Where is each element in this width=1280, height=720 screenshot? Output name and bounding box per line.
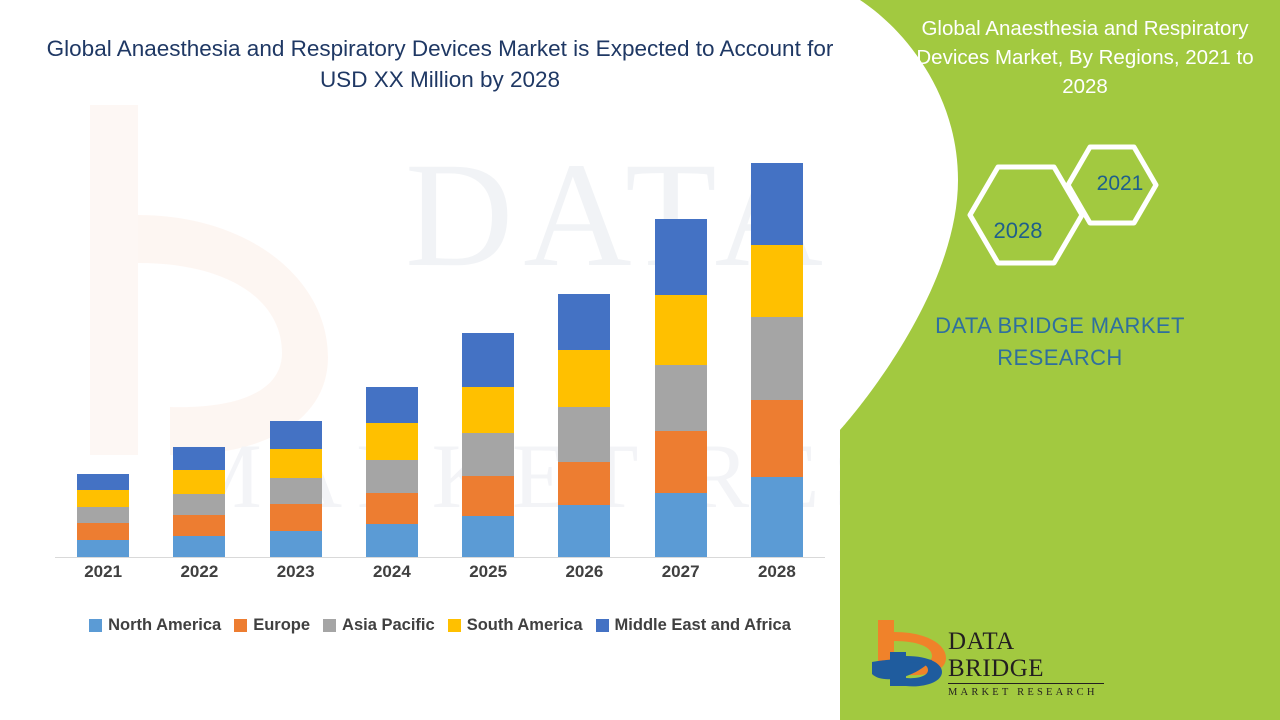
hexagon-2028-shape [970,167,1082,263]
legend-label: Europe [253,616,310,635]
bar-segment[interactable] [173,515,225,536]
bar-stack-2023[interactable] [270,421,322,557]
hexagon-2028-label: 2028 [968,218,1068,244]
x-axis-tick-2021: 2021 [55,562,151,582]
bar-segment[interactable] [462,433,514,475]
bar-segment[interactable] [655,295,707,365]
legend-swatch-icon [323,619,336,632]
legend-swatch-icon [448,619,461,632]
bar-segment[interactable] [270,421,322,450]
bar-segment[interactable] [462,333,514,387]
bar-stack-2028[interactable] [751,163,803,557]
logo-text-block: DATA BRIDGE MARKET RESEARCH [948,628,1108,699]
right-panel-title: Global Anaesthesia and Respiratory Devic… [900,14,1270,101]
bar-segment[interactable] [655,431,707,492]
bar-segment[interactable] [270,478,322,504]
x-axis-tick-2026: 2026 [536,562,632,582]
bar-segment[interactable] [366,524,418,557]
legend-item[interactable]: Asia Pacific [323,616,435,635]
infographic-canvas: DATA MARKET RESEARCH Global Anaesthesia … [0,0,1280,720]
bar-segment[interactable] [270,449,322,478]
bar-slot [344,150,440,557]
bar-segment[interactable] [270,504,322,530]
bar-segment[interactable] [462,387,514,434]
legend-label: South America [467,616,583,635]
bar-stack-2022[interactable] [173,447,225,557]
x-axis-tick-2022: 2022 [151,562,247,582]
bar-segment[interactable] [173,470,225,493]
bar-slot [536,150,632,557]
bar-slot [151,150,247,557]
legend-item[interactable]: South America [448,616,583,635]
legend-item[interactable]: Middle East and Africa [596,616,791,635]
x-axis-tick-2027: 2027 [633,562,729,582]
bar-segment[interactable] [77,490,129,507]
bar-segment[interactable] [173,536,225,557]
logo-title: DATA BRIDGE [948,628,1108,682]
bar-stack-2026[interactable] [558,294,610,557]
bar-segment[interactable] [173,494,225,515]
legend-swatch-icon [596,619,609,632]
bar-segment[interactable] [655,493,707,557]
bar-stack-2021[interactable] [77,474,129,557]
hexagon-shapes [950,140,1280,290]
bar-segment[interactable] [558,294,610,350]
bar-slot [248,150,344,557]
bar-segment[interactable] [751,245,803,317]
x-axis-tick-2023: 2023 [248,562,344,582]
bar-segment[interactable] [751,317,803,399]
bar-segment[interactable] [558,407,610,462]
bar-segment[interactable] [462,516,514,557]
bar-stack-2024[interactable] [366,387,418,557]
legend-label: North America [108,616,221,635]
logo-divider [948,683,1104,684]
legend-label: Middle East and Africa [615,616,791,635]
bar-segment[interactable] [751,163,803,245]
bar-stack-2027[interactable] [655,219,707,557]
bar-segment[interactable] [558,505,610,557]
x-axis-tick-2028: 2028 [729,562,825,582]
bar-slot [55,150,151,557]
bar-slot [633,150,729,557]
chart-title: Global Anaesthesia and Respiratory Devic… [45,33,835,95]
bar-segment[interactable] [366,493,418,525]
legend-swatch-icon [234,619,247,632]
bar-segment[interactable] [558,350,610,407]
bar-segment[interactable] [270,531,322,557]
right-panel: Global Anaesthesia and Respiratory Devic… [840,0,1280,720]
bar-segment[interactable] [462,476,514,516]
bar-segment[interactable] [77,540,129,557]
legend-item[interactable]: North America [89,616,221,635]
bar-segment[interactable] [77,474,129,491]
bar-segment[interactable] [751,400,803,477]
bar-stack-2025[interactable] [462,333,514,557]
bar-segment[interactable] [77,507,129,523]
x-axis-line [55,557,825,558]
bar-segment[interactable] [366,423,418,460]
bar-slot [440,150,536,557]
bar-segment[interactable] [751,477,803,557]
bar-segment[interactable] [366,387,418,423]
chart-legend: North AmericaEuropeAsia PacificSouth Ame… [45,616,835,635]
bar-group [55,150,825,557]
legend-swatch-icon [89,619,102,632]
bar-segment[interactable] [77,523,129,540]
bar-segment[interactable] [173,447,225,470]
bar-segment[interactable] [655,219,707,295]
x-axis-tick-2025: 2025 [440,562,536,582]
legend-item[interactable]: Europe [234,616,310,635]
databridge-logo: DATA BRIDGE MARKET RESEARCH [860,612,1110,692]
brand-name: DATA BRIDGE MARKET RESEARCH [870,310,1250,374]
legend-label: Asia Pacific [342,616,435,635]
hexagon-2021-label: 2021 [1075,172,1165,196]
plot-area [55,150,825,558]
x-axis-tick-2024: 2024 [344,562,440,582]
bar-segment[interactable] [366,460,418,493]
logo-subtitle: MARKET RESEARCH [948,686,1108,699]
hexagon-group: 2028 2021 [950,140,1280,290]
bar-segment[interactable] [558,462,610,505]
bar-segment[interactable] [655,365,707,432]
x-axis-labels: 20212022202320242025202620272028 [55,562,825,582]
bar-slot [729,150,825,557]
